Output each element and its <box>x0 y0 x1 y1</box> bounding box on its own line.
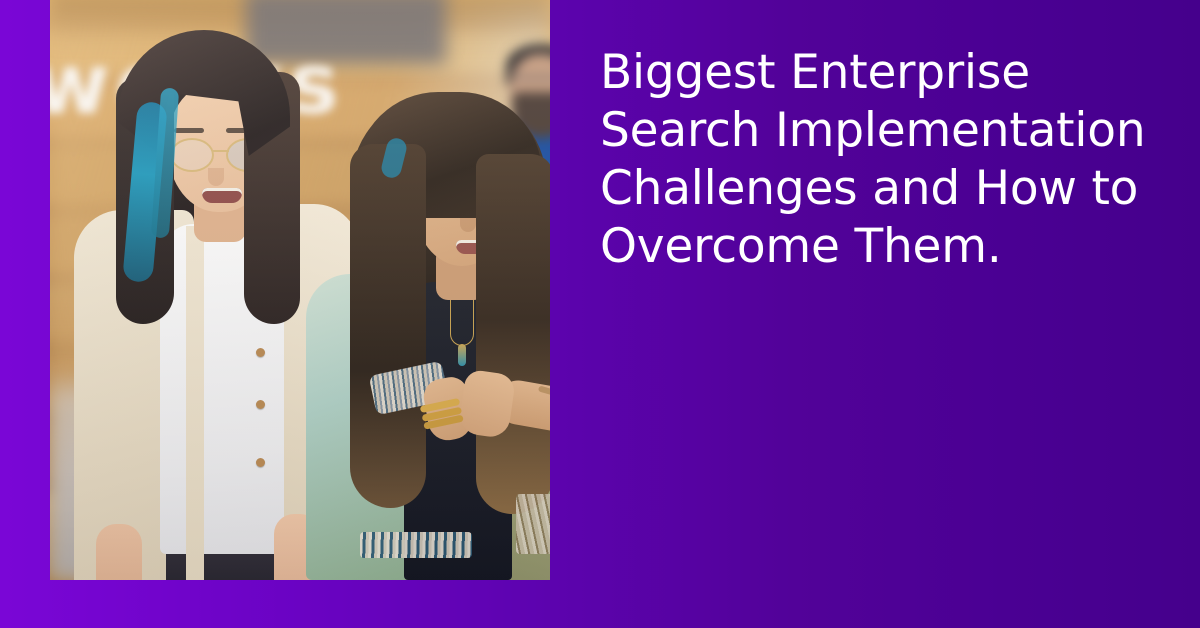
person-left-hand <box>96 524 142 580</box>
eyeglass-bridge <box>213 150 229 152</box>
promo-banner: works <box>0 0 1200 628</box>
necklace-pendant <box>458 344 466 366</box>
jacket-button <box>256 348 265 357</box>
person-right-hair-left <box>350 144 426 508</box>
hero-photo: works <box>50 0 550 580</box>
person-left-eyebrow <box>174 128 204 133</box>
bystander-glasses-icon <box>514 76 550 89</box>
person-left-jacket-placket <box>186 226 204 580</box>
person-right <box>310 96 550 580</box>
jacket-button <box>256 400 265 409</box>
person-left-mouth <box>202 188 242 203</box>
jacket-hem-trim <box>516 494 550 554</box>
jacket-button <box>256 458 265 467</box>
eyeglass-lens <box>170 138 214 172</box>
banner-headline: Biggest Enterprise Search Implementation… <box>600 44 1160 276</box>
person-right-hair-right <box>476 154 550 514</box>
jacket-hem-trim <box>360 532 472 558</box>
